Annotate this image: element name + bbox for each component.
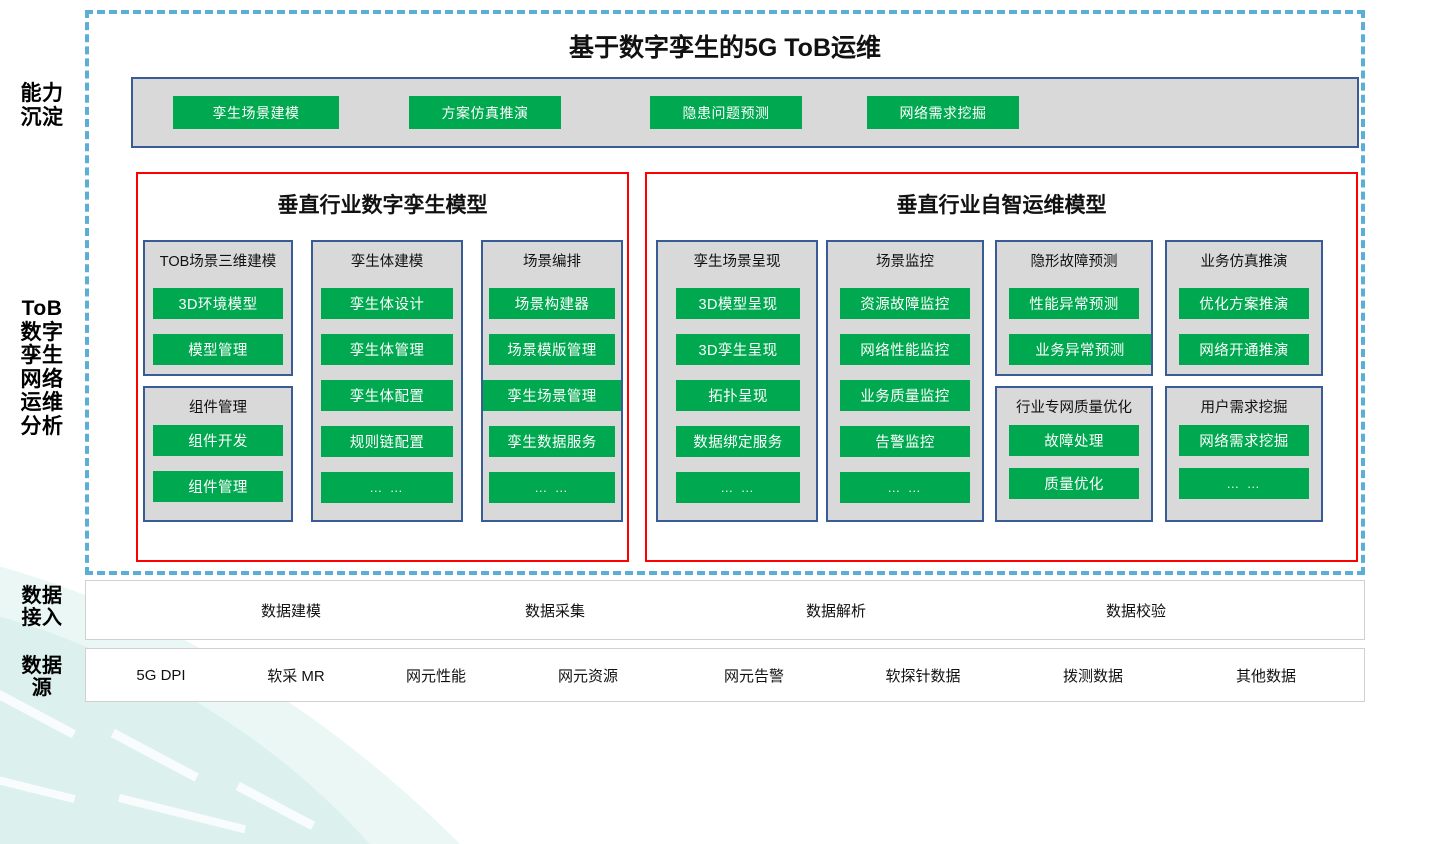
chip-scene-template-management[interactable]: 场景模版管理 <box>489 334 615 365</box>
chip-network-demand-mining[interactable]: 网络需求挖掘 <box>1179 425 1309 456</box>
chip-component-development[interactable]: 组件开发 <box>153 425 283 456</box>
panel-title-right: 垂直行业自智运维模型 <box>645 189 1358 219</box>
chip-more-user-demand-mining[interactable]: … … <box>1179 468 1309 499</box>
page-title: 基于数字孪生的5G ToB运维 <box>85 28 1365 64</box>
chip-3d-environment-model[interactable]: 3D环境模型 <box>153 288 283 319</box>
module-title: 场景编排 <box>483 250 621 271</box>
chip-service-anomaly-prediction[interactable]: 业务异常预测 <box>1009 334 1151 365</box>
module-title: 组件管理 <box>145 396 291 417</box>
chip-alarm-monitoring[interactable]: 告警监控 <box>840 426 970 457</box>
rail-label-capability: 能力 沉淀 <box>6 82 78 129</box>
chip-more-twin-scene-presentation[interactable]: … … <box>676 472 800 503</box>
rail-line: 数字 <box>6 321 78 345</box>
chip-topology-presentation[interactable]: 拓扑呈现 <box>676 380 800 411</box>
chip-service-quality-monitoring[interactable]: 业务质量监控 <box>840 380 970 411</box>
chip-twin-data-service[interactable]: 孪生数据服务 <box>489 426 615 457</box>
rail-line: 沉淀 <box>6 106 78 130</box>
chip-data-binding-service[interactable]: 数据绑定服务 <box>676 426 800 457</box>
data-source-cell-4[interactable]: 网元告警 <box>684 649 824 701</box>
chip-component-management[interactable]: 组件管理 <box>153 471 283 502</box>
rail-line: 分析 <box>6 415 78 439</box>
module-title: TOB场景三维建模 <box>145 250 291 271</box>
rail-line: 数据 <box>6 585 78 607</box>
rail-label-data-access: 数据 接入 <box>6 585 78 630</box>
capability-button-1[interactable]: 方案仿真推演 <box>409 96 561 129</box>
chip-rule-chain-configuration[interactable]: 规则链配置 <box>321 426 453 457</box>
data-access-cell-0[interactable]: 数据建模 <box>196 581 386 639</box>
chip-optimization-plan-deduction[interactable]: 优化方案推演 <box>1179 288 1309 319</box>
rail-line: 接入 <box>6 607 78 629</box>
chip-more-twin-entity[interactable]: … … <box>321 472 453 503</box>
chip-quality-optimization[interactable]: 质量优化 <box>1009 468 1139 499</box>
data-access-cell-2[interactable]: 数据解析 <box>741 581 931 639</box>
chip-twin-entity-design[interactable]: 孪生体设计 <box>321 288 453 319</box>
chip-performance-anomaly-prediction[interactable]: 性能异常预测 <box>1009 288 1139 319</box>
chip-more-scene-monitoring[interactable]: … … <box>840 472 970 503</box>
module-title: 行业专网质量优化 <box>997 396 1151 417</box>
data-source-cell-6[interactable]: 拨测数据 <box>1023 649 1163 701</box>
chip-resource-fault-monitoring[interactable]: 资源故障监控 <box>840 288 970 319</box>
data-access-band: 数据建模 数据采集 数据解析 数据校验 <box>85 580 1365 640</box>
data-source-cell-3[interactable]: 网元资源 <box>518 649 658 701</box>
rail-line: 源 <box>6 677 78 699</box>
chip-model-management[interactable]: 模型管理 <box>153 334 283 365</box>
rail-line: 数据 <box>6 655 78 677</box>
chip-fault-handling[interactable]: 故障处理 <box>1009 425 1139 456</box>
chip-more-scene-orchestration[interactable]: … … <box>489 472 615 503</box>
chip-twin-entity-management[interactable]: 孪生体管理 <box>321 334 453 365</box>
module-title: 场景监控 <box>828 250 982 271</box>
rail-line: 孪生 <box>6 344 78 368</box>
rail-line: 运维 <box>6 391 78 415</box>
chip-network-performance-monitoring[interactable]: 网络性能监控 <box>840 334 970 365</box>
capability-button-0[interactable]: 孪生场景建模 <box>173 96 339 129</box>
rail-label-tob-digital-twin: ToB 数字 孪生 网络 运维 分析 <box>6 297 78 438</box>
module-title: 用户需求挖掘 <box>1167 396 1321 417</box>
capability-button-2[interactable]: 隐患问题预测 <box>650 96 802 129</box>
chip-twin-scene-management[interactable]: 孪生场景管理 <box>483 380 621 411</box>
module-title: 孪生场景呈现 <box>658 250 816 271</box>
panel-title-left: 垂直行业数字孪生模型 <box>136 189 629 219</box>
data-source-cell-0[interactable]: 5G DPI <box>96 649 226 701</box>
chip-3d-twin-presentation[interactable]: 3D孪生呈现 <box>676 334 800 365</box>
rail-label-data-source: 数据 源 <box>6 655 78 700</box>
module-title: 隐形故障预测 <box>997 250 1151 271</box>
chip-twin-entity-configuration[interactable]: 孪生体配置 <box>321 380 453 411</box>
rail-line: 能力 <box>6 82 78 106</box>
rail-line: 网络 <box>6 368 78 392</box>
chip-3d-model-presentation[interactable]: 3D模型呈现 <box>676 288 800 319</box>
data-access-cell-3[interactable]: 数据校验 <box>1041 581 1231 639</box>
chip-network-provisioning-deduction[interactable]: 网络开通推演 <box>1179 334 1309 365</box>
data-access-cell-1[interactable]: 数据采集 <box>460 581 650 639</box>
data-source-cell-5[interactable]: 软探针数据 <box>848 649 998 701</box>
data-source-cell-1[interactable]: 软采 MR <box>226 649 366 701</box>
module-title: 业务仿真推演 <box>1167 250 1321 271</box>
data-source-band: 5G DPI 软采 MR 网元性能 网元资源 网元告警 软探针数据 拨测数据 其… <box>85 648 1365 702</box>
capability-button-3[interactable]: 网络需求挖掘 <box>867 96 1019 129</box>
chip-scene-builder[interactable]: 场景构建器 <box>489 288 615 319</box>
data-source-cell-2[interactable]: 网元性能 <box>366 649 506 701</box>
rail-line: ToB <box>6 297 78 321</box>
module-title: 孪生体建模 <box>313 250 461 271</box>
data-source-cell-7[interactable]: 其他数据 <box>1196 649 1336 701</box>
